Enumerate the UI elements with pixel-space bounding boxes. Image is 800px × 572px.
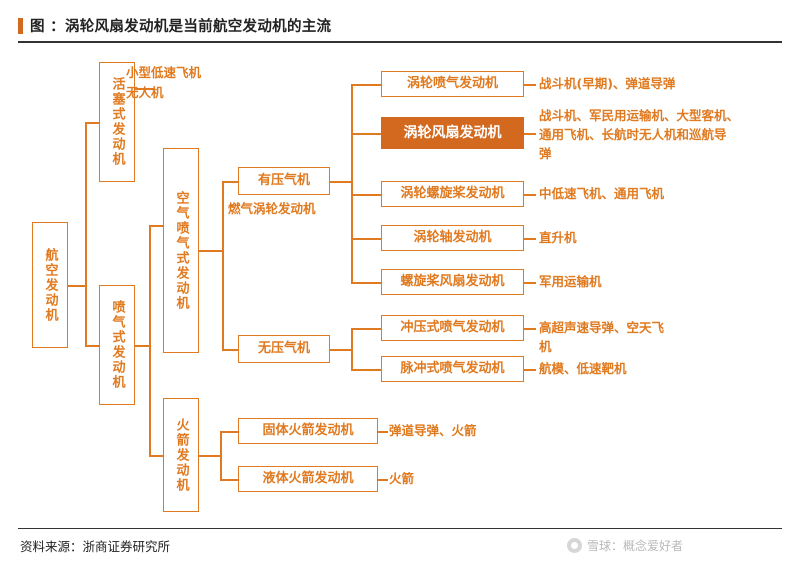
node-turboprop[interactable]: 涡轮螺旋桨发动机 (381, 181, 524, 207)
connector (351, 328, 381, 330)
annotation-gas-turbine-note: 燃气涡轮发动机 (228, 201, 316, 218)
node-jet[interactable]: 喷气式发动机 (99, 285, 135, 405)
annotation-piston-apps-line1: 小型低速飞机 (126, 65, 201, 82)
connector (524, 369, 536, 371)
node-turbojet[interactable]: 涡轮喷气发动机 (381, 71, 524, 97)
connector (85, 345, 99, 347)
connector (351, 84, 353, 282)
connector (68, 285, 86, 287)
connector (351, 194, 381, 196)
connector (524, 133, 536, 135)
connector (134, 345, 150, 347)
connector (222, 349, 238, 351)
connector (524, 194, 536, 196)
annotation-ramjet-apps-line1: 高超声速导弹、空天飞 (539, 320, 664, 337)
title-divider (18, 41, 782, 43)
connector (351, 133, 381, 135)
connector (524, 238, 536, 240)
node-solid-rocket[interactable]: 固体火箭发动机 (238, 418, 378, 444)
connector (222, 181, 238, 183)
connector (199, 455, 221, 457)
connector (524, 84, 536, 86)
annotation-turbofan-apps-line2: 通用飞机、长航时无人机和巡航导 (539, 127, 727, 144)
annotation-solid-rocket-apps: 弹道导弹、火箭 (389, 423, 477, 440)
title-bullet-icon (18, 18, 23, 34)
connector (524, 328, 536, 330)
connector (199, 250, 223, 252)
connector (220, 479, 238, 481)
connector (378, 479, 388, 481)
connector (351, 282, 381, 284)
connector (330, 349, 352, 351)
source-note: 资料来源：浙商证券研究所 (20, 536, 170, 555)
connector (85, 285, 87, 345)
annotation-piston-apps-line2: 无人机 (126, 85, 164, 102)
chart-title-bar: 图 ：涡轮风扇发动机是当前航空发动机的主流 (18, 14, 782, 44)
connector (351, 328, 353, 370)
node-turboshaft[interactable]: 涡轮轴发动机 (381, 225, 524, 251)
connector (220, 431, 222, 479)
annotation-liquid-rocket-apps: 火箭 (389, 471, 414, 488)
node-compressed[interactable]: 有压气机 (238, 167, 330, 195)
node-rocket[interactable]: 火箭发动机 (163, 398, 199, 512)
node-air-breathing[interactable]: 空气喷气式发动机 (163, 148, 199, 353)
connector (149, 225, 163, 227)
annotation-turbofan-apps-line3: 弹 (539, 146, 552, 163)
connector (351, 84, 381, 86)
annotation-pulsejet-apps: 航模、低速靶机 (539, 361, 627, 378)
connector (149, 455, 163, 457)
annotation-turbojet-apps: 战斗机(早期)、弹道导弹 (539, 76, 675, 93)
connector (351, 238, 381, 240)
footer-divider (18, 528, 782, 529)
watermark: 雪球：概念爱好者 (567, 537, 683, 554)
page-title: 图 ：涡轮风扇发动机是当前航空发动机的主流 (30, 15, 331, 36)
node-root[interactable]: 航空发动机 (32, 222, 68, 348)
diagram-canvas: 图 ：涡轮风扇发动机是当前航空发动机的主流 航空发动机 活塞式发动机 (0, 0, 800, 572)
connector (330, 181, 352, 183)
connector (85, 122, 99, 124)
annotation-turboprop-apps: 中低速飞机、通用飞机 (539, 186, 664, 203)
connector (378, 431, 388, 433)
xueqiu-logo-icon (567, 538, 582, 553)
node-propfan[interactable]: 螺旋桨风扇发动机 (381, 269, 524, 295)
annotation-ramjet-apps-line2: 机 (539, 339, 552, 356)
connector (222, 181, 224, 350)
watermark-text: 雪球：概念爱好者 (587, 537, 683, 554)
annotation-propfan-apps: 军用运输机 (539, 274, 602, 291)
connector (149, 225, 151, 455)
node-turbofan[interactable]: 涡轮风扇发动机 (381, 117, 524, 149)
node-uncompressed[interactable]: 无压气机 (238, 335, 330, 363)
annotation-turboshaft-apps: 直升机 (539, 230, 577, 247)
annotation-turbofan-apps-line1: 战斗机、军民用运输机、大型客机、 (539, 108, 739, 125)
node-ramjet[interactable]: 冲压式喷气发动机 (381, 315, 524, 341)
connector (85, 122, 87, 287)
connector (351, 369, 381, 371)
node-liquid-rocket[interactable]: 液体火箭发动机 (238, 466, 378, 492)
node-pulsejet[interactable]: 脉冲式喷气发动机 (381, 356, 524, 382)
connector (220, 431, 238, 433)
connector (524, 282, 536, 284)
